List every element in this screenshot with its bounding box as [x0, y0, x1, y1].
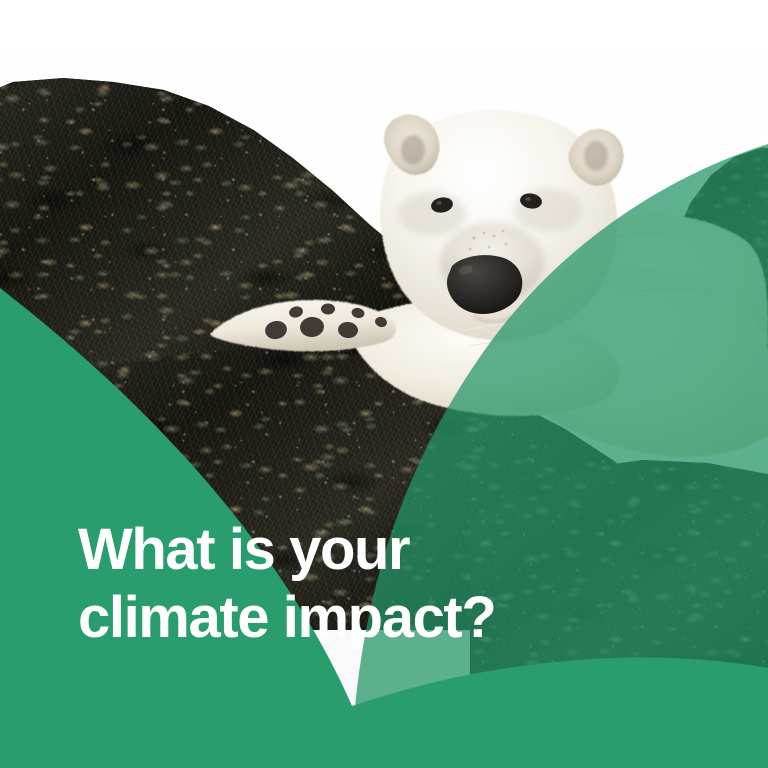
poster-canvas: What is your climate impact?: [0, 0, 768, 768]
page-title: What is your climate impact?: [78, 516, 698, 653]
